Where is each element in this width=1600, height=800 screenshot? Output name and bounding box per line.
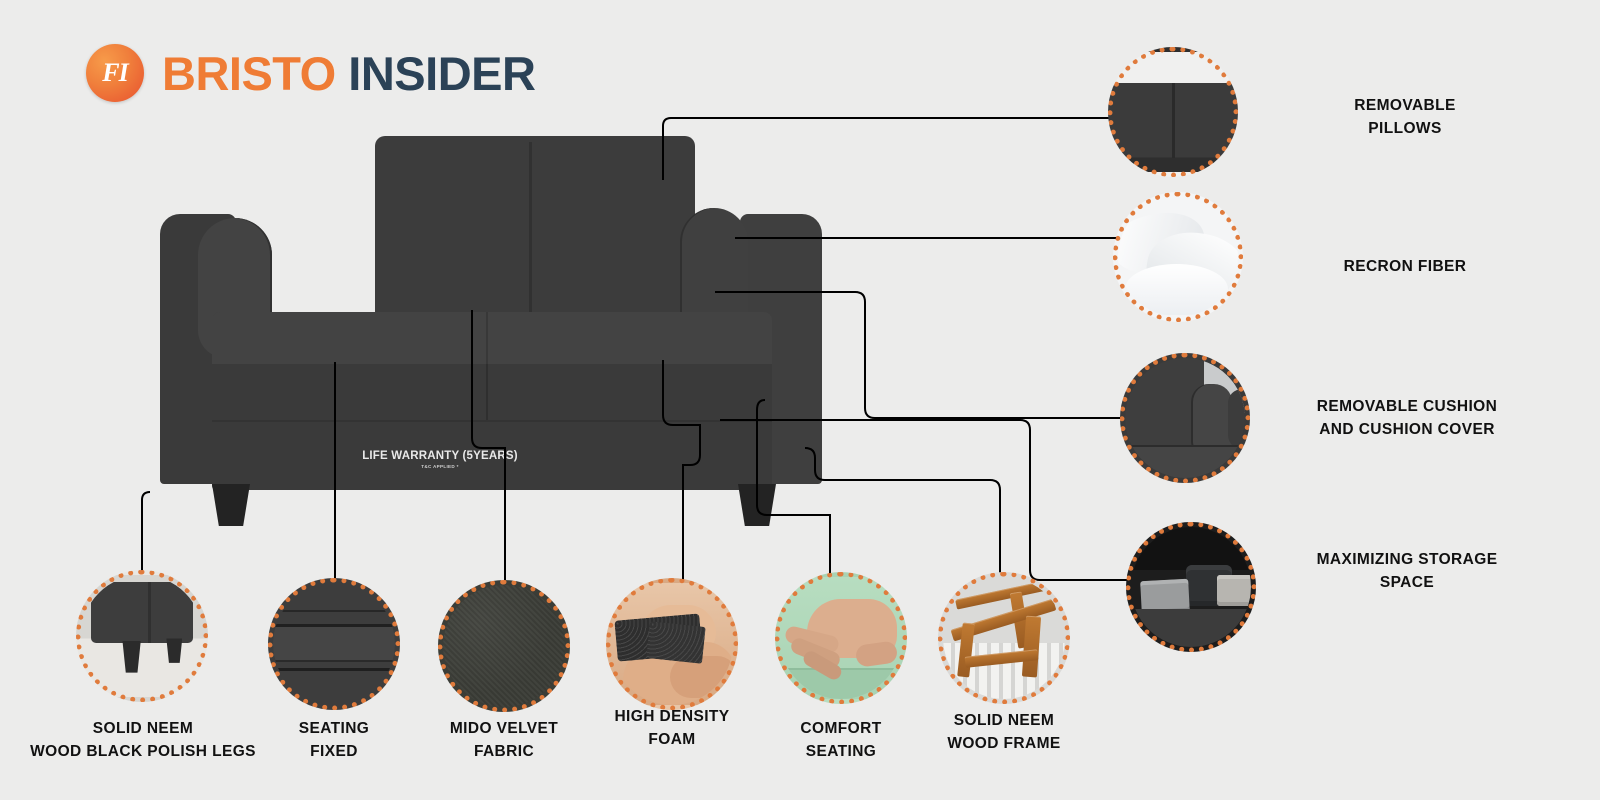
comfort-thumbnail[interactable]: [775, 572, 907, 704]
callout-label-removable-pillows: REMOVABLE PILLOWS: [1270, 95, 1540, 141]
foam-thumbnail[interactable]: [606, 578, 738, 710]
seating-seam-4: [273, 668, 395, 671]
legs-sofa-body: [91, 582, 193, 643]
fi-monogram-icon: FI: [86, 44, 144, 102]
sofa-base: [212, 364, 772, 490]
legs-front-leg: [122, 641, 140, 673]
warranty-note: T&C APPLIED *: [290, 464, 590, 469]
fiber-shape-3: [1125, 264, 1228, 314]
warranty-text: LIFE WARRANTY (5YEARS): [362, 450, 518, 462]
callout-label-comfort: COMFORT SEATING: [751, 718, 931, 764]
fiber-thumbnail[interactable]: [1113, 192, 1243, 322]
storage-thumbnail[interactable]: [1126, 522, 1256, 652]
brand-primary: BRISTO: [162, 47, 336, 100]
cushion-seat: [1125, 445, 1245, 478]
callout-label-legs: SOLID NEEM WOOD BLACK POLISH LEGS: [12, 718, 274, 764]
cushion-inner: [1125, 358, 1245, 478]
base-seam-horizontal: [212, 420, 772, 422]
pillows-thumbnail[interactable]: [1108, 47, 1238, 177]
seating-seam-2: [273, 624, 395, 627]
cushion-thumbnail[interactable]: [1120, 353, 1250, 483]
seating-thumbnail[interactable]: [268, 578, 400, 710]
callout-label-recron-fiber: RECRON FIBER: [1270, 256, 1540, 279]
foam-inner: [611, 583, 733, 705]
fiber-inner: [1118, 197, 1238, 317]
seating-inner: [273, 583, 395, 705]
base-seam-vertical: [486, 364, 488, 420]
sofa-leg-left: [212, 484, 250, 526]
comfort-inner: [780, 577, 902, 699]
brand-secondary: INSIDER: [348, 47, 535, 100]
brand-header: FI BRISTO INSIDER: [86, 44, 535, 102]
warranty-badge: LIFE WARRANTY (5YEARS) T&C APPLIED *: [290, 450, 590, 469]
infographic-canvas: FI BRISTO INSIDER LIFE WARRANTY (5YEARS)…: [0, 0, 1600, 800]
seating-band: [273, 624, 395, 659]
storage-cavity: [1131, 527, 1251, 570]
seating-seam-3: [273, 660, 395, 662]
callout-label-foam: HIGH DENSITY FOAM: [582, 706, 762, 752]
logo-glyph: FI: [86, 44, 144, 102]
legs-inner: [81, 575, 203, 697]
velvet-thumbnail[interactable]: [438, 580, 570, 712]
wood-inner: [943, 577, 1065, 699]
cushion-pillow: [1191, 384, 1232, 451]
velvet-inner: [443, 585, 565, 707]
sofa-backrest: [375, 136, 695, 321]
wood-frame-thumbnail[interactable]: [938, 572, 1070, 704]
callout-label-storage: MAXIMIZING STORAGE SPACE: [1262, 549, 1552, 595]
storage-lid: [1131, 609, 1251, 647]
storage-folded-linen-2: [1217, 575, 1251, 606]
page-title: BRISTO INSIDER: [162, 50, 535, 97]
callout-label-removable-cushion: REMOVABLE CUSHION AND CUSHION COVER: [1262, 396, 1552, 442]
legs-rear-leg: [166, 638, 182, 662]
legs-thumbnail[interactable]: [76, 570, 208, 702]
sofa-leg-right: [738, 484, 776, 526]
velvet-texture: [443, 585, 565, 707]
sofa-illustration: LIFE WARRANTY (5YEARS) T&C APPLIED *: [160, 132, 840, 522]
callout-label-seating: SEATING FIXED: [244, 718, 424, 764]
foam-block-fold: [646, 622, 706, 664]
callout-label-wood-frame: SOLID NEEM WOOD FRAME: [914, 710, 1094, 756]
storage-inner: [1131, 527, 1251, 647]
seating-seam-1: [273, 610, 395, 612]
callout-label-velvet: MIDO VELVET FABRIC: [414, 718, 594, 764]
cushion-pillow-2: [1228, 389, 1245, 449]
